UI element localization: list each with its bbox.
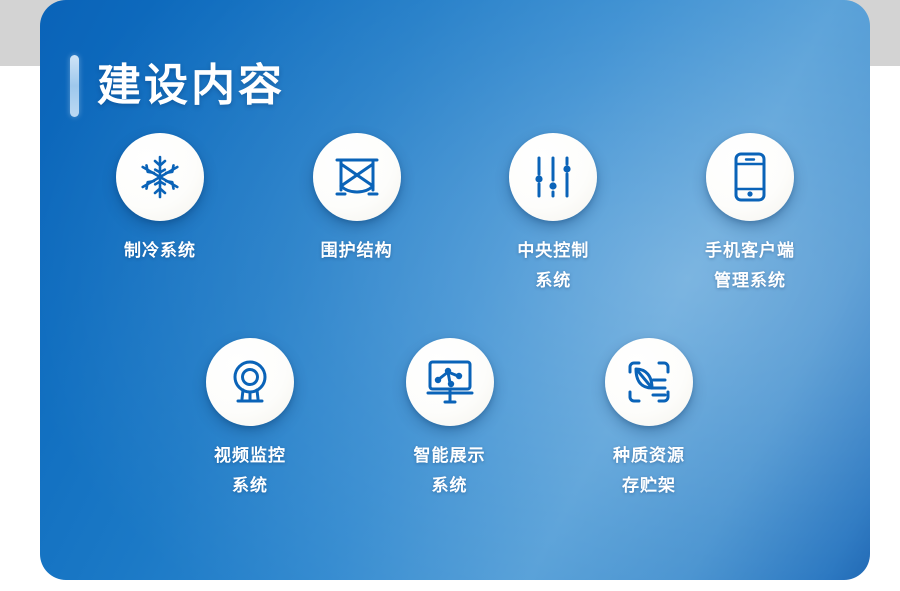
feature-item-refrigeration[interactable]: 制冷系统 [90, 133, 230, 296]
feature-item-video-surveillance[interactable]: 视频监控 系统 [180, 338, 320, 501]
icon-bubble [706, 133, 794, 221]
braced-frame-icon [332, 154, 382, 200]
title-text: 建设内容 [97, 64, 285, 108]
monitor-network-icon [425, 359, 475, 405]
feature-label: 制冷系统 [124, 236, 196, 266]
feature-label: 种质资源 存贮架 [613, 441, 685, 501]
feature-label: 智能展示 系统 [414, 441, 486, 501]
snowflake-icon [136, 153, 184, 201]
feature-label: 视频监控 系统 [214, 441, 286, 501]
surveillance-camera-icon [227, 358, 273, 406]
icon-bubble [605, 338, 693, 426]
icon-bubble [406, 338, 494, 426]
icon-bubble [206, 338, 294, 426]
mobile-phone-icon [733, 152, 767, 202]
title-accent-bar [70, 55, 79, 117]
page-title: 建设内容 [70, 55, 285, 117]
feature-item-mobile-client[interactable]: 手机客户端 管理系统 [680, 133, 820, 296]
feature-item-smart-display[interactable]: 智能展示 系统 [380, 338, 520, 501]
feature-item-germplasm-storage[interactable]: 种质资源 存贮架 [579, 338, 719, 501]
feature-row-1: 制冷系统 [90, 133, 820, 296]
page-root: 建设内容 [0, 0, 900, 591]
icon-bubble [509, 133, 597, 221]
feature-label: 中央控制 系统 [517, 236, 589, 296]
leaf-document-icon [625, 358, 673, 406]
icon-bubble [313, 133, 401, 221]
feature-item-central-control[interactable]: 中央控制 系统 [483, 133, 623, 296]
sliders-icon [531, 154, 575, 200]
feature-item-envelope-structure[interactable]: 围护结构 [287, 133, 427, 296]
feature-row-2: 视频监控 系统 [180, 338, 719, 501]
content-panel: 建设内容 [40, 0, 870, 580]
icon-bubble [116, 133, 204, 221]
feature-label: 围护结构 [321, 236, 393, 266]
feature-label: 手机客户端 管理系统 [705, 236, 795, 296]
